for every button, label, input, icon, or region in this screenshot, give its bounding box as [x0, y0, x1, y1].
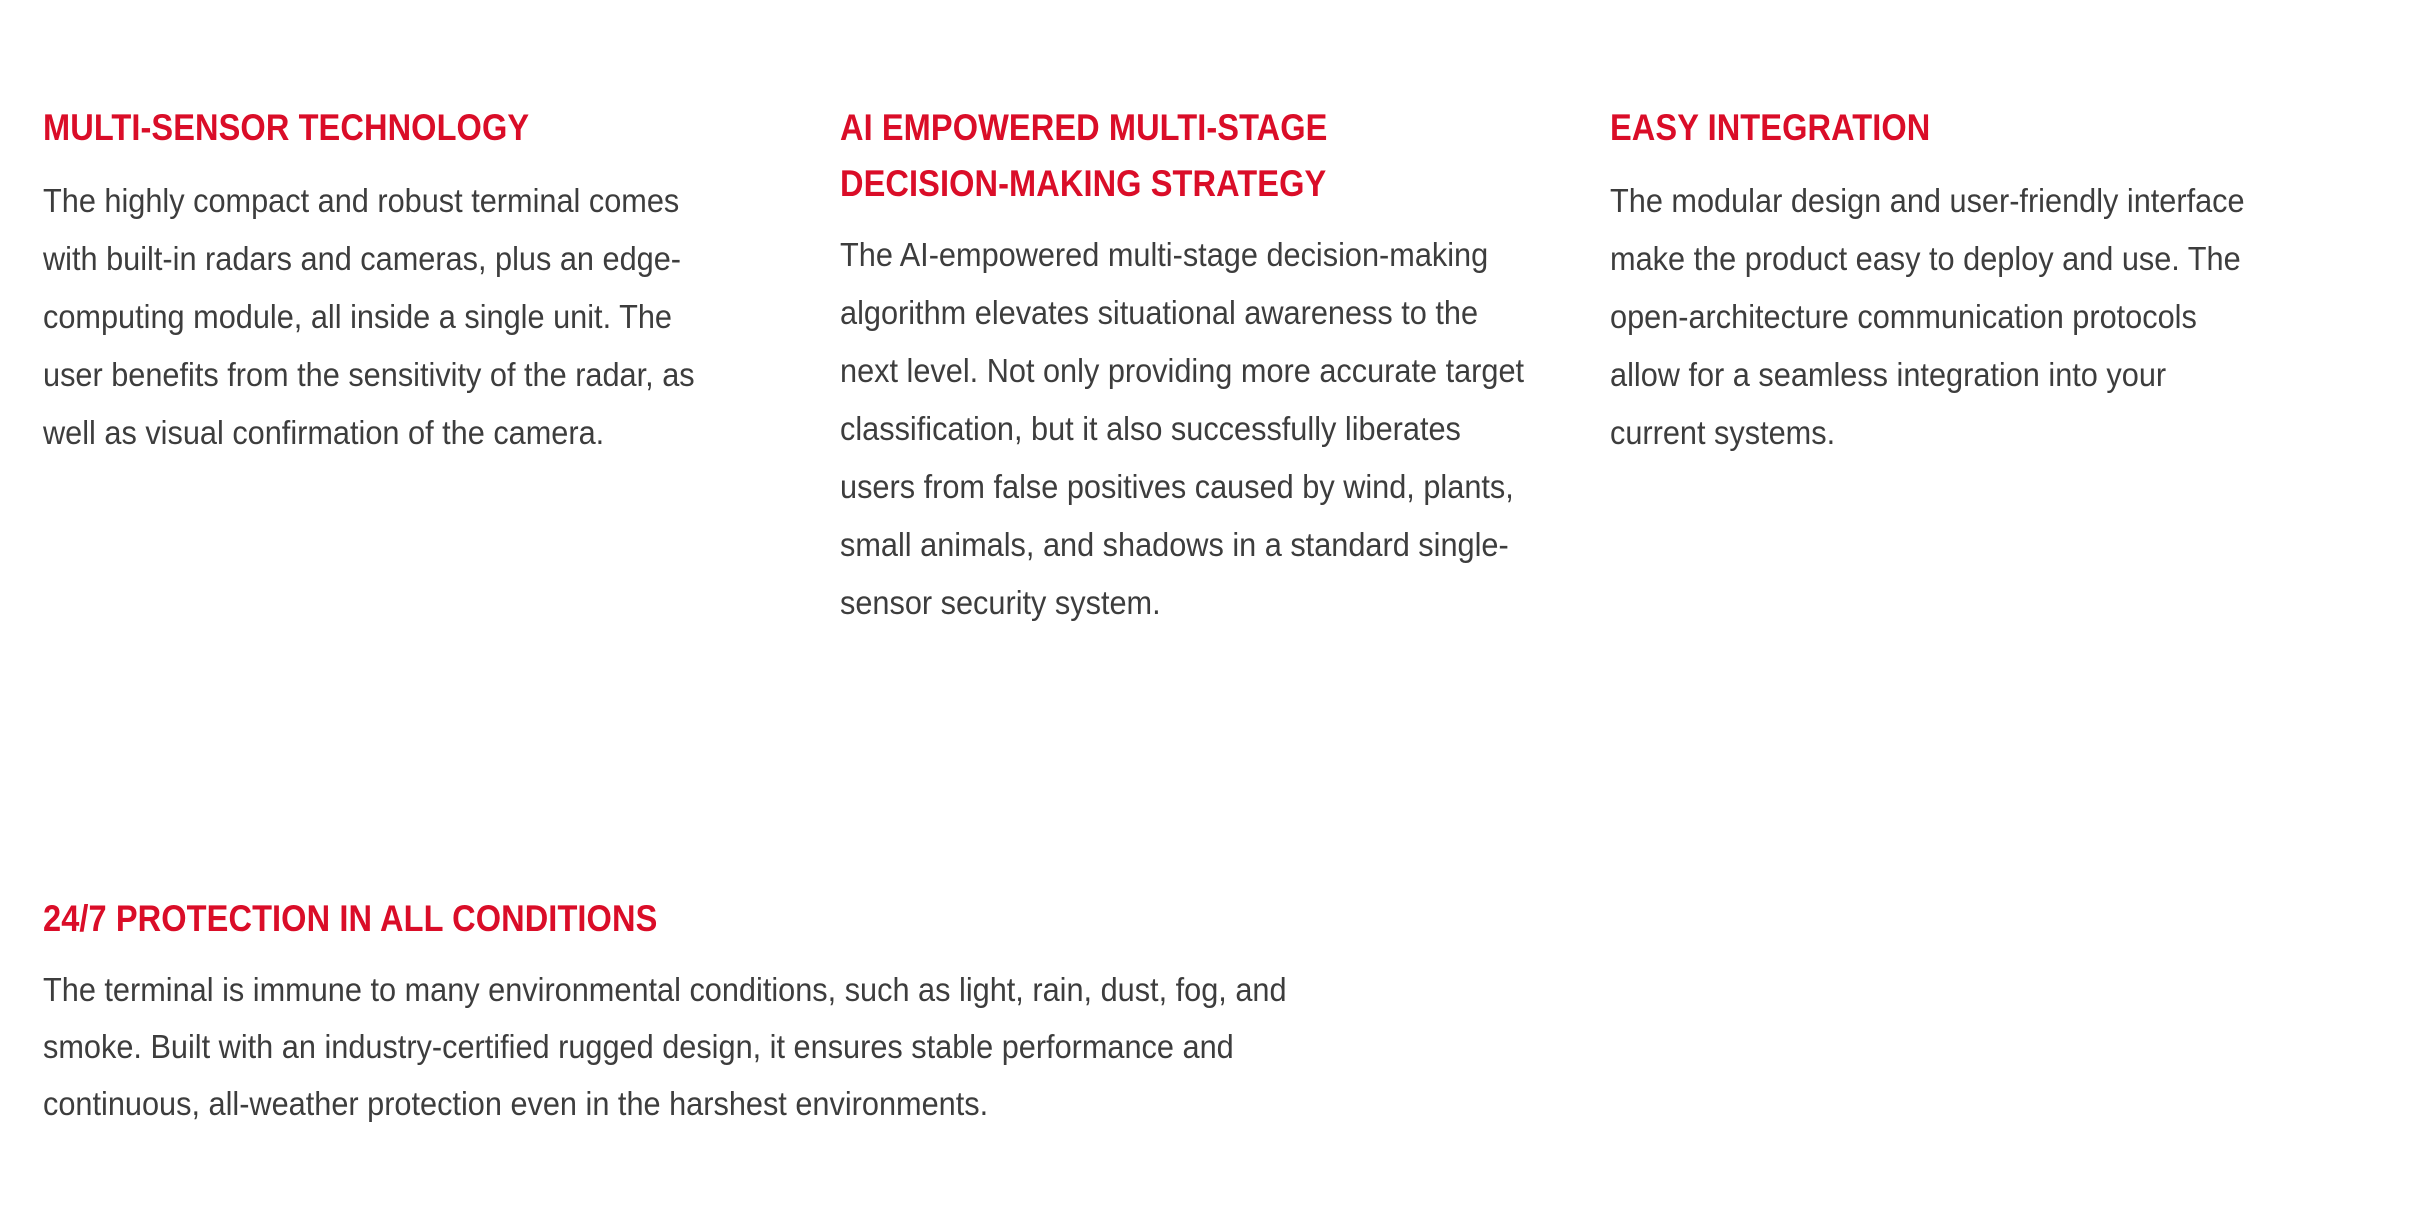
feature-body: The modular design and user-friendly int… [1610, 172, 2254, 462]
feature-card-multi-sensor-technology: MULTI-SENSOR TECHNOLOGY The highly compa… [43, 100, 840, 462]
feature-body: The highly compact and robust terminal c… [43, 172, 710, 462]
feature-card-easy-integration: EASY INTEGRATION The modular design and … [1610, 100, 2343, 462]
feature-card-ai-empowered-multi-stage-decision-making-strategy: AI EMPOWERED MULTI-STAGE DECISION-MAKING… [840, 100, 1610, 632]
feature-columns: MULTI-SENSOR TECHNOLOGY The highly compa… [43, 100, 2343, 632]
feature-card-24-7-protection-in-all-conditions: 24/7 PROTECTION IN ALL CONDITIONS The te… [43, 895, 1543, 1132]
feature-heading: AI EMPOWERED MULTI-STAGE DECISION-MAKING… [840, 100, 1491, 212]
feature-section-page: MULTI-SENSOR TECHNOLOGY The highly compa… [0, 0, 2430, 1220]
feature-heading: 24/7 PROTECTION IN ALL CONDITIONS [43, 895, 1363, 943]
feature-body: The AI-empowered multi-stage decision-ma… [840, 226, 1528, 632]
feature-body: The terminal is immune to many environme… [43, 961, 1345, 1132]
feature-heading: MULTI-SENSOR TECHNOLOGY [43, 100, 674, 156]
feature-heading: EASY INTEGRATION [1610, 100, 2220, 156]
